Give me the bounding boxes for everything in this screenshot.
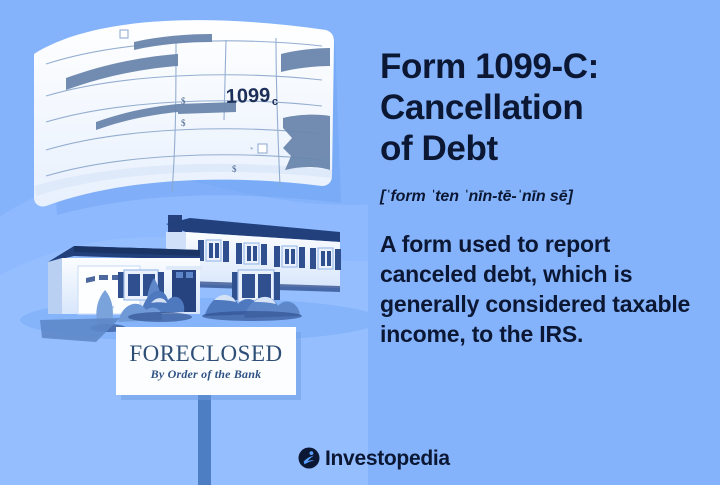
lower-wall-side [48,258,62,314]
infographic-canvas: $ $ $ * 1099 c [0,0,720,485]
investopedia-logo: Investopedia [298,447,450,469]
svg-text:*: * [250,146,254,154]
definition-description: A form used to report canceled debt, whi… [380,229,710,349]
page-title: Form 1099-C:Cancellationof Debt [380,46,710,169]
svg-text:$: $ [181,118,186,128]
pronunciation-text: [ˈform ˈten ˈnīn-tē-ˈnīn sē] [380,187,710,207]
form-1099c-document: $ $ $ * 1099 c [34,20,341,215]
title-line-1: Form 1099-C: [380,47,599,86]
investopedia-circle-icon [298,447,320,469]
illustration-svg: $ $ $ * 1099 c [0,0,368,485]
form-number-text: 1099 [225,84,270,108]
sign-board [116,327,296,395]
form-number-suffix: c [272,96,279,108]
svg-text:$: $ [232,164,237,174]
lower-window-right [232,270,280,302]
title-line-3: of Debt [380,129,498,168]
svg-text:$: $ [181,96,186,106]
investopedia-wordmark: Investopedia [325,448,450,469]
definition-text-column: Form 1099-C:Cancellationof Debt [ˈform ˈ… [380,46,710,349]
title-line-2: Cancellation [380,88,583,127]
illustration-panel: $ $ $ * 1099 c [0,0,368,485]
